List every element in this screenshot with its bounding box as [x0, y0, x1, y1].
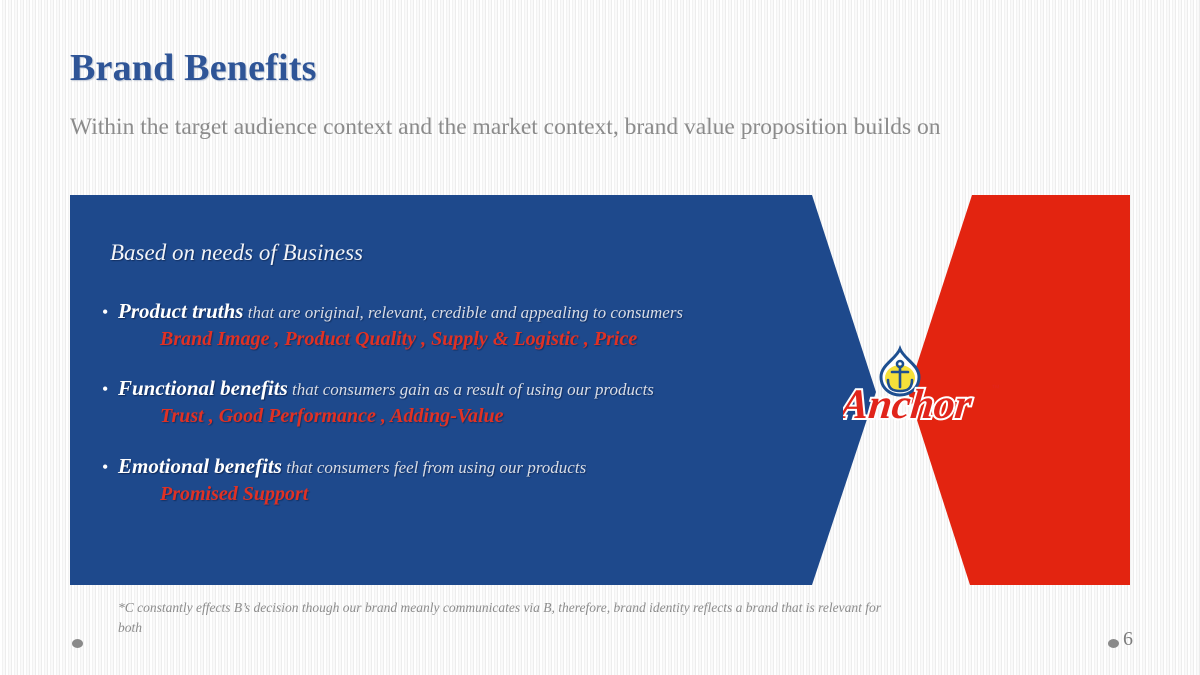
- bullet-tail: that are original, relevant, credible an…: [243, 303, 683, 322]
- decorative-dot-left: [72, 639, 83, 648]
- bullet-text: Functional benefits that consumers gain …: [118, 376, 862, 401]
- bullet-tail: that consumers feel from using our produ…: [282, 458, 586, 477]
- bullet-subtext: Brand Image , Product Quality , Supply &…: [160, 328, 862, 351]
- bullet-subtext: Promised Support: [160, 483, 862, 506]
- blue-panel-content: Based on needs of Business • Product tru…: [70, 195, 860, 585]
- bullet-text: Emotional benefits that consumers feel f…: [118, 454, 862, 479]
- panel-heading: Based on needs of Business: [110, 240, 363, 266]
- bullet-lead: Product truths: [118, 299, 243, 323]
- logo-trademark: ™: [991, 383, 1000, 393]
- logo-wordmark: Anchor: [843, 381, 975, 427]
- bullet-line: • Emotional benefits that consumers feel…: [102, 454, 862, 479]
- footnote-text: *C constantly effects B’s decision thoug…: [118, 598, 898, 638]
- bullet-lead: Emotional benefits: [118, 454, 282, 478]
- bullet-text: Product truths that are original, releva…: [118, 299, 862, 324]
- bullet-subtext: Trust , Good Performance , Adding-Value: [160, 405, 862, 428]
- bullet-tail: that consumers gain as a result of using…: [288, 380, 654, 399]
- anchor-brand-logo: Anchor ™: [843, 345, 1015, 427]
- bullet-dot-icon: •: [102, 458, 118, 476]
- list-item: • Product truths that are original, rele…: [102, 299, 862, 351]
- bullet-line: • Product truths that are original, rele…: [102, 299, 862, 324]
- list-item: • Functional benefits that consumers gai…: [102, 376, 862, 428]
- slide-canvas: Brand Benefits Within the target audienc…: [0, 0, 1200, 675]
- bullet-lead: Functional benefits: [118, 376, 288, 400]
- decorative-dot-right: [1108, 639, 1119, 648]
- bullet-dot-icon: •: [102, 303, 118, 321]
- page-number: 6: [1123, 628, 1133, 651]
- bullet-dot-icon: •: [102, 380, 118, 398]
- list-item: • Emotional benefits that consumers feel…: [102, 454, 862, 506]
- bullet-line: • Functional benefits that consumers gai…: [102, 376, 862, 401]
